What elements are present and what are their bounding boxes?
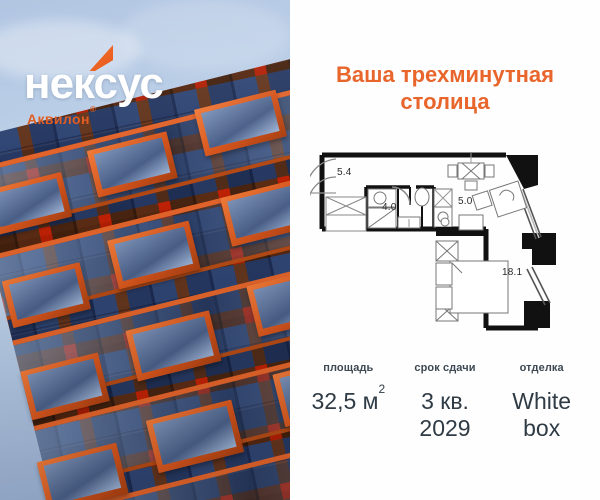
room-area-living-room: 18.1 (502, 267, 522, 278)
spec-completion-date: срок сдачи 3 кв. 2029 (397, 362, 494, 441)
title-line-1: Ваша трехминутная (304, 62, 586, 89)
spec-value-second-line: 2029 (397, 415, 494, 442)
title-line-2: столица (304, 89, 586, 116)
room-area-kitchen: 5.0 (458, 196, 473, 207)
spec-value-text: White (493, 388, 590, 415)
spec-label: площадь (300, 362, 397, 374)
registered-mark: ® (90, 105, 96, 114)
listing-card: нексус Аквилон® Ваша трехминутная столиц… (0, 0, 600, 500)
brand-name: нексус (24, 62, 234, 106)
floor-plan[interactable]: 5.4 4.0 5.0 18.1 (310, 145, 582, 340)
building-photo: нексус Аквилон® (0, 0, 290, 500)
spec-label: отделка (493, 362, 590, 374)
spec-value: 32,5 м2 (300, 388, 397, 415)
room-area-hallway: 5.4 (337, 167, 352, 178)
brand-logo: нексус Аквилон® (24, 62, 234, 127)
spec-value: 3 кв. 2029 (397, 388, 494, 441)
spec-value-second-line: box (493, 415, 590, 442)
spec-label: срок сдачи (397, 362, 494, 374)
developer-name: Аквилон® (27, 111, 234, 127)
spec-finishing: отделка White box (493, 362, 590, 441)
developer-label: Аквилон (27, 111, 90, 127)
room-area-bathroom: 4.0 (382, 202, 397, 213)
spec-value-text: 32,5 м (312, 388, 379, 414)
info-panel: Ваша трехминутная столица (290, 0, 600, 500)
page-title: Ваша трехминутная столица (304, 62, 586, 116)
spec-unit-exponent: 2 (378, 382, 385, 396)
spec-area: площадь 32,5 м2 (300, 362, 397, 441)
spec-value: White box (493, 388, 590, 441)
spec-value-text: 3 кв. (397, 388, 494, 415)
specs-row: площадь 32,5 м2 срок сдачи 3 кв. 2029 от… (300, 362, 590, 441)
